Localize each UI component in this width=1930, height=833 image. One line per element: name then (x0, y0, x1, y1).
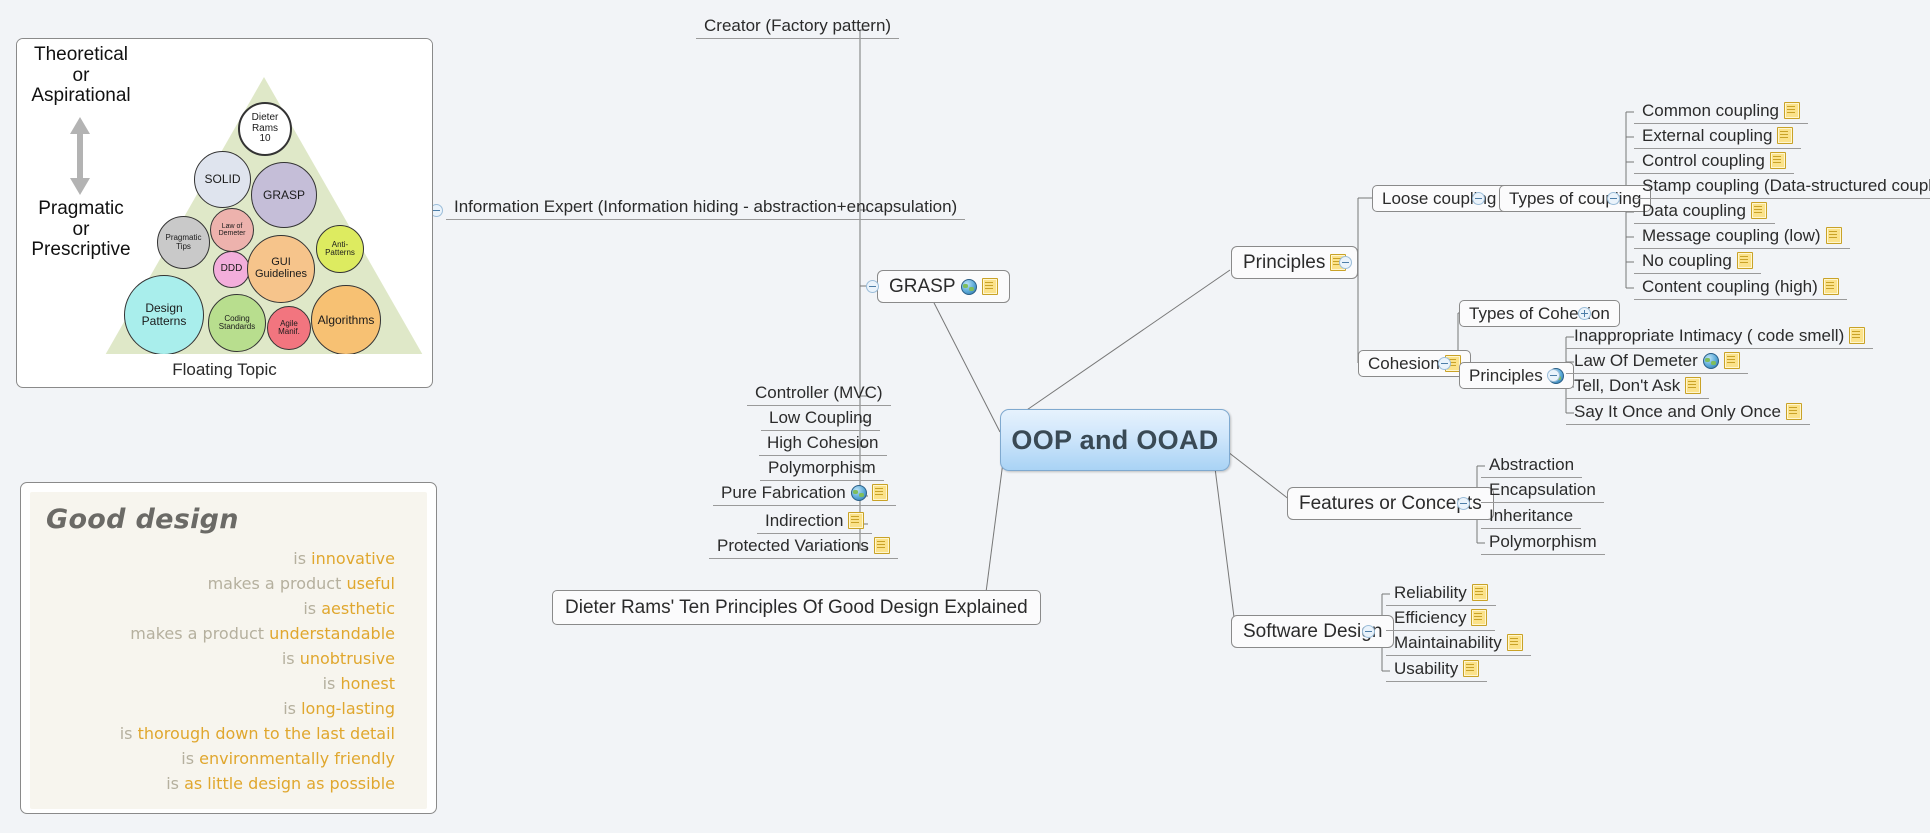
prefix: is (303, 599, 316, 618)
prefix: is (282, 649, 295, 668)
branch-principles-label: Principles (1243, 253, 1325, 272)
node-types-of-coupling[interactable]: Types of coupling (1499, 185, 1651, 212)
line: Patterns (142, 315, 187, 328)
line: Algorithms (318, 314, 375, 327)
note-icon (1507, 634, 1523, 651)
label: Inheritance (1489, 507, 1573, 524)
software-design-efficiency[interactable]: Efficiency (1386, 606, 1495, 631)
bubble-design-patterns: Design Patterns (124, 275, 204, 354)
label: Data coupling (1642, 202, 1746, 219)
good-design-line: makes a product useful (44, 574, 413, 593)
axis-label-top: Theoretical or Aspirational (25, 45, 137, 107)
line: Manif. (278, 328, 300, 336)
globe-icon (961, 279, 977, 295)
bubble-dieter-rams-10: Dieter Rams 10 (238, 102, 292, 156)
note-icon (982, 278, 998, 295)
note-icon (1823, 278, 1839, 295)
label: Efficiency (1394, 609, 1466, 626)
line: Law of (219, 223, 246, 230)
prefix: is (293, 549, 306, 568)
good-design-line: makes a product understandable (44, 624, 413, 643)
axis-bottom-line-3: Prescriptive (25, 240, 137, 261)
coupling-type-control[interactable]: Control coupling (1634, 149, 1794, 174)
node-cohesion[interactable]: Cohesion (1358, 350, 1471, 377)
branch-grasp[interactable]: GRASP (877, 270, 1010, 303)
label: Dieter Rams' Ten Principles Of Good Desi… (565, 598, 1028, 617)
floating-topic-pyramid[interactable]: Theoretical or Aspirational Pragmatic or… (16, 38, 433, 388)
note-icon (1751, 202, 1767, 219)
line: 10 (252, 134, 279, 145)
highlight: environmentally friendly (199, 749, 395, 768)
axis-label-bottom: Pragmatic or Prescriptive (25, 199, 137, 261)
line: Demeter (219, 230, 246, 237)
collapse-handle-grasp[interactable] (866, 280, 879, 293)
software-design-reliability[interactable]: Reliability (1386, 581, 1496, 606)
note-icon (874, 537, 890, 554)
label: Message coupling (low) (1642, 227, 1821, 244)
note-icon (1777, 127, 1793, 144)
label: Abstraction (1489, 456, 1574, 473)
grasp-child-high-cohesion[interactable]: High Cohesion (759, 431, 887, 456)
note-icon (1770, 152, 1786, 169)
label: No coupling (1642, 252, 1732, 269)
good-design-title: Good design (46, 504, 413, 535)
bubble-solid: SOLID (194, 151, 251, 208)
bubble-ddd: DDD (213, 251, 250, 288)
bubble-pragmatic-tips: Pragmatic Tips (157, 216, 210, 269)
cohesion-principle-law-of-demeter[interactable]: Law Of Demeter (1566, 349, 1748, 374)
feature-polymorphism[interactable]: Polymorphism (1481, 530, 1605, 555)
mindmap-canvas: OOP and OOAD GRASP Creator (Factory patt… (0, 0, 1930, 833)
good-design-line: is aesthetic (44, 599, 413, 618)
collapse-handle-loose-coupling[interactable] (1472, 192, 1485, 205)
note-icon (1471, 609, 1487, 626)
axis-top-line-1: Theoretical (25, 45, 137, 66)
cohesion-principle-tell-dont-ask[interactable]: Tell, Don't Ask (1566, 374, 1709, 399)
prefix: is (120, 724, 133, 743)
prefix: is (181, 749, 194, 768)
label: Usability (1394, 660, 1458, 677)
label: High Cohesion (767, 434, 879, 451)
grasp-child-low-coupling[interactable]: Low Coupling (761, 406, 880, 431)
note-icon (1472, 584, 1488, 601)
note-icon (1463, 660, 1479, 677)
line: GRASP (263, 189, 305, 202)
label: Encapsulation (1489, 481, 1596, 498)
central-topic[interactable]: OOP and OOAD (1000, 409, 1230, 471)
label: Controller (MVC) (755, 384, 883, 401)
feature-encapsulation[interactable]: Encapsulation (1481, 478, 1604, 503)
axis-top-line-2: or (25, 66, 137, 87)
note-icon (848, 512, 864, 529)
line: SOLID (204, 173, 240, 186)
coupling-type-none[interactable]: No coupling (1634, 249, 1761, 274)
label: Low Coupling (769, 409, 872, 426)
grasp-child-creator[interactable]: Creator (Factory pattern) (696, 14, 899, 39)
coupling-type-message[interactable]: Message coupling (low) (1634, 224, 1850, 249)
good-design-line: is honest (44, 674, 413, 693)
note-icon (1784, 102, 1800, 119)
label: Indirection (765, 512, 843, 529)
collapse-handle-cohesion-principles[interactable] (1547, 369, 1560, 382)
good-design-line: is innovative (44, 549, 413, 568)
label: External coupling (1642, 127, 1772, 144)
label: Principles (1469, 367, 1543, 384)
collapse-handle-features[interactable] (1457, 497, 1470, 510)
good-design-poster: Good design is innovative makes a produc… (30, 492, 427, 809)
grasp-child-indirection[interactable]: Indirection (757, 509, 872, 534)
label: Common coupling (1642, 102, 1779, 119)
good-design-line: is thorough down to the last detail (44, 724, 413, 743)
label: Reliability (1394, 584, 1467, 601)
label: Polymorphism (768, 459, 876, 476)
grasp-child-pure-fabrication[interactable]: Pure Fabrication (713, 481, 896, 506)
label: Tell, Don't Ask (1574, 377, 1680, 394)
bubble-algorithms: Algorithms (311, 285, 381, 354)
label: Information Expert (Information hiding -… (454, 198, 957, 215)
label: Content coupling (high) (1642, 278, 1818, 295)
highlight: long-lasting (301, 699, 395, 718)
bubble-agile-manifesto: Agile Manif. (267, 306, 311, 350)
pyramid-illustration: Theoretical or Aspirational Pragmatic or… (17, 39, 432, 354)
highlight: thorough down to the last detail (138, 724, 395, 743)
bubble-coding-standards: Coding Standards (208, 294, 266, 352)
feature-abstraction[interactable]: Abstraction (1481, 453, 1582, 478)
highlight: understandable (269, 624, 395, 643)
axis-bottom-line-1: Pragmatic (25, 199, 137, 220)
coupling-type-data[interactable]: Data coupling (1634, 199, 1775, 224)
branch-grasp-label: GRASP (889, 277, 956, 296)
line: Patterns (325, 249, 355, 257)
line: DDD (221, 264, 243, 275)
node-types-of-cohesion[interactable]: Types of Cohesion (1459, 300, 1620, 327)
line: Tips (165, 243, 201, 251)
globe-icon (851, 485, 867, 501)
label: Polymorphism (1489, 533, 1597, 550)
label: Types of coupling (1509, 190, 1641, 207)
floating-topic-caption: Floating Topic (21, 809, 436, 814)
globe-icon (1703, 353, 1719, 369)
prefix: is (323, 674, 336, 693)
software-design-maintainability[interactable]: Maintainability (1386, 631, 1531, 656)
collapse-handle-cohesion[interactable] (1438, 357, 1451, 370)
prefix: is (283, 699, 296, 718)
floating-topic-good-design[interactable]: Good design is innovative makes a produc… (20, 482, 437, 814)
branch-features-label: Features or Concepts (1299, 494, 1482, 513)
double-arrow-icon (69, 117, 91, 195)
highlight: unobtrusive (300, 649, 395, 668)
highlight: as little design as possible (184, 774, 395, 793)
label: Pure Fabrication (721, 484, 846, 501)
label: Say It Once and Only Once (1574, 403, 1781, 420)
axis-bottom-line-2: or (25, 220, 137, 241)
bubble-law-of-demeter: Law of Demeter (210, 208, 254, 252)
collapse-handle-software-design[interactable] (1362, 625, 1375, 638)
axis-top-line-3: Aspirational (25, 86, 137, 107)
good-design-line: is environmentally friendly (44, 749, 413, 768)
label: Stamp coupling (Data-structured coupling… (1642, 177, 1930, 194)
node-dieter-rams-ten-principles[interactable]: Dieter Rams' Ten Principles Of Good Desi… (552, 590, 1041, 625)
good-design-line: is as little design as possible (44, 774, 413, 793)
grasp-child-polymorphism[interactable]: Polymorphism (760, 456, 884, 481)
cohesion-principle-say-it-once[interactable]: Say It Once and Only Once (1566, 400, 1810, 425)
label: Law Of Demeter (1574, 352, 1698, 369)
floating-topic-caption: Floating Topic (17, 354, 432, 387)
cohesion-principle-inappropriate-intimacy[interactable]: Inappropriate Intimacy ( code smell) (1566, 324, 1873, 349)
label: Control coupling (1642, 152, 1765, 169)
note-icon (872, 484, 888, 501)
good-design-line: is unobtrusive (44, 649, 413, 668)
highlight: innovative (311, 549, 395, 568)
grasp-child-information-expert[interactable]: Information Expert (Information hiding -… (446, 195, 965, 220)
prefix: is (166, 774, 179, 793)
note-icon (1685, 377, 1701, 394)
good-design-line: is long-lasting (44, 699, 413, 718)
note-icon (1724, 352, 1740, 369)
highlight: useful (346, 574, 395, 593)
bubble-grasp: GRASP (251, 162, 317, 228)
label: Creator (Factory pattern) (704, 17, 891, 34)
collapse-handle-types-of-coupling[interactable] (1607, 192, 1620, 205)
label: Inappropriate Intimacy ( code smell) (1574, 327, 1844, 344)
label: Protected Variations (717, 537, 869, 554)
note-icon (1737, 252, 1753, 269)
bubble-anti-patterns: Anti- Patterns (316, 225, 364, 273)
coupling-type-common[interactable]: Common coupling (1634, 99, 1808, 124)
note-icon (1786, 403, 1802, 420)
highlight: honest (340, 674, 395, 693)
feature-inheritance[interactable]: Inheritance (1481, 504, 1581, 529)
software-design-usability[interactable]: Usability (1386, 657, 1487, 682)
grasp-child-protected-variations[interactable]: Protected Variations (709, 534, 898, 559)
line: Standards (219, 323, 255, 331)
label: Cohesion (1368, 355, 1440, 372)
highlight: aesthetic (321, 599, 395, 618)
coupling-type-external[interactable]: External coupling (1634, 124, 1801, 149)
coupling-type-content[interactable]: Content coupling (high) (1634, 275, 1847, 300)
prefix: makes a product (208, 574, 342, 593)
expand-handle-types-of-cohesion[interactable] (1578, 307, 1591, 320)
coupling-type-stamp[interactable]: Stamp coupling (Data-structured coupling… (1634, 174, 1930, 199)
bubble-gui-guidelines: GUI Guidelines (247, 235, 315, 303)
collapse-handle-principles[interactable] (1339, 256, 1352, 269)
prefix: makes a product (130, 624, 264, 643)
label: Maintainability (1394, 634, 1502, 651)
note-icon (1826, 227, 1842, 244)
line: Guidelines (255, 269, 307, 281)
grasp-child-controller[interactable]: Controller (MVC) (747, 381, 891, 406)
note-icon (1849, 327, 1865, 344)
